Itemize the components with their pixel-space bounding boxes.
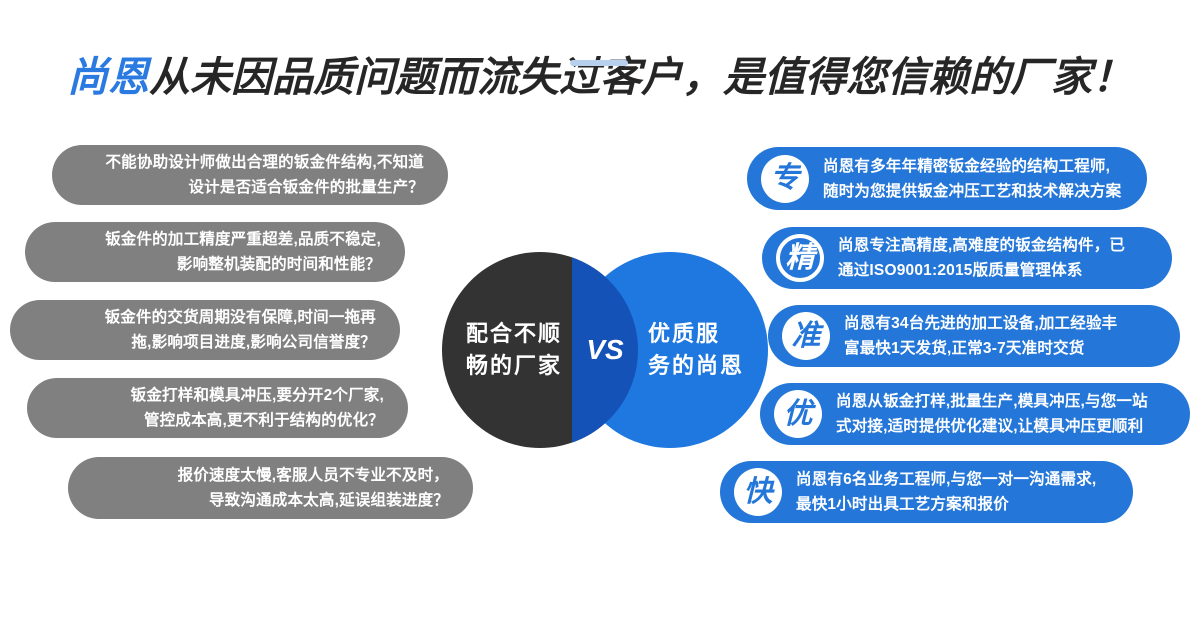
advantage-pill-1: 专 尚恩有多年年精密钣金经验的结构工程师, 随时为您提供钣金冲压工艺和技术解决方… xyxy=(747,147,1147,210)
advantage-badge-jing: 精 xyxy=(776,234,824,282)
pain-point-line: 不能协助设计师做出合理的钣金件结构,不知道 xyxy=(105,150,424,175)
advantage-line: 尚恩有34台先进的加工设备,加工经验丰 xyxy=(844,311,1164,336)
advantage-text: 尚恩从钣金打样,批量生产,模具冲压,与您一站 式对接,适时提供优化建议,让模具冲… xyxy=(822,389,1190,439)
pain-point-line: 导致沟通成本太高,延误组装进度？ xyxy=(209,488,449,513)
advantage-badge-zhun: 准 xyxy=(782,312,830,360)
advantage-line: 富最快1天发货,正常3-7天准时交货 xyxy=(844,336,1164,361)
advantage-line: 随时为您提供钣金冲压工艺和技术解决方案 xyxy=(823,179,1131,204)
advantage-pill-2: 精 尚恩专注高精度,高难度的钣金结构件，已 通过ISO9001:2015版质量管… xyxy=(762,227,1172,289)
advantage-line: 式对接,适时提供优化建议,让模具冲压更顺利 xyxy=(836,414,1174,439)
advantage-pill-5: 快 尚恩有6名业务工程师,与您一对一沟通需求, 最快1小时出具工艺方案和报价 xyxy=(720,461,1133,523)
pain-point-pill-2: 钣金件的加工精度严重超差,品质不稳定, 影响整机装配的时间和性能？ xyxy=(25,222,405,282)
pain-point-line: 报价速度太慢,客服人员不专业不及时， xyxy=(178,463,449,488)
advantage-badge-you: 优 xyxy=(774,390,822,438)
advantage-pill-4: 优 尚恩从钣金打样,批量生产,模具冲压,与您一站 式对接,适时提供优化建议,让模… xyxy=(760,383,1190,445)
pain-point-line: 影响整机装配的时间和性能？ xyxy=(177,252,381,277)
venn-right-line: 务的尚恩 xyxy=(648,350,744,382)
advantage-line: 尚恩有6名业务工程师,与您一对一沟通需求, xyxy=(796,467,1117,492)
advantage-line: 通过ISO9001:2015版质量管理体系 xyxy=(838,258,1156,283)
advantage-text: 尚恩有多年年精密钣金经验的结构工程师, 随时为您提供钣金冲压工艺和技术解决方案 xyxy=(809,154,1147,204)
advantage-badge-kuai: 快 xyxy=(734,468,782,516)
pain-point-line: 设计是否适合钣金件的批量生产？ xyxy=(188,175,424,200)
pain-point-line: 钣金件的交货周期没有保障,时间一拖再 xyxy=(105,305,376,330)
advantage-line: 最快1小时出具工艺方案和报价 xyxy=(796,492,1117,517)
advantage-text: 尚恩有34台先进的加工设备,加工经验丰 富最快1天发货,正常3-7天准时交货 xyxy=(830,311,1180,361)
pain-point-line: 管控成本高,更不利于结构的优化？ xyxy=(144,408,384,433)
venn-diagram: 配合不顺 畅的厂家 优质服 务的尚恩 VS xyxy=(440,252,770,452)
pain-point-pill-5: 报价速度太慢,客服人员不专业不及时， 导致沟通成本太高,延误组装进度？ xyxy=(68,457,473,519)
venn-left-label: 配合不顺 畅的厂家 xyxy=(466,318,562,382)
infographic-canvas: 尚恩从未因品质问题而流失过客户，是值得您信赖的厂家！ 不能协助设计师做出合理的钣… xyxy=(0,0,1200,629)
venn-left-line: 畅的厂家 xyxy=(466,350,562,382)
brand-name: 尚恩 xyxy=(67,54,149,100)
venn-right-label: 优质服 务的尚恩 xyxy=(648,318,744,382)
advantage-text: 尚恩专注高精度,高难度的钣金结构件，已 通过ISO9001:2015版质量管理体… xyxy=(824,233,1172,283)
pain-point-line: 钣金打样和模具冲压,要分开2个厂家, xyxy=(131,383,384,408)
advantage-text: 尚恩有6名业务工程师,与您一对一沟通需求, 最快1小时出具工艺方案和报价 xyxy=(782,467,1133,517)
venn-left-line: 配合不顺 xyxy=(466,318,562,350)
venn-vs-label: VS xyxy=(572,252,638,448)
advantage-line: 尚恩有多年年精密钣金经验的结构工程师, xyxy=(823,154,1131,179)
advantage-pill-3: 准 尚恩有34台先进的加工设备,加工经验丰 富最快1天发货,正常3-7天准时交货 xyxy=(768,305,1180,367)
advantage-line: 尚恩从钣金打样,批量生产,模具冲压,与您一站 xyxy=(836,389,1174,414)
venn-right-line: 优质服 xyxy=(648,318,744,350)
title-divider xyxy=(570,60,628,66)
advantage-line: 尚恩专注高精度,高难度的钣金结构件，已 xyxy=(838,233,1156,258)
pain-point-line: 拖,影响项目进度,影响公司信誉度？ xyxy=(131,330,376,355)
pain-point-pill-3: 钣金件的交货周期没有保障,时间一拖再 拖,影响项目进度,影响公司信誉度？ xyxy=(10,300,400,360)
pain-point-line: 钣金件的加工精度严重超差,品质不稳定, xyxy=(105,227,381,252)
pain-point-pill-1: 不能协助设计师做出合理的钣金件结构,不知道 设计是否适合钣金件的批量生产？ xyxy=(52,145,448,205)
pain-point-pill-4: 钣金打样和模具冲压,要分开2个厂家, 管控成本高,更不利于结构的优化？ xyxy=(27,378,408,438)
advantage-badge-zhuan: 专 xyxy=(761,155,809,203)
page-title-rest: 从未因品质问题而流失过客户，是值得您信赖的厂家！ xyxy=(149,54,1133,100)
